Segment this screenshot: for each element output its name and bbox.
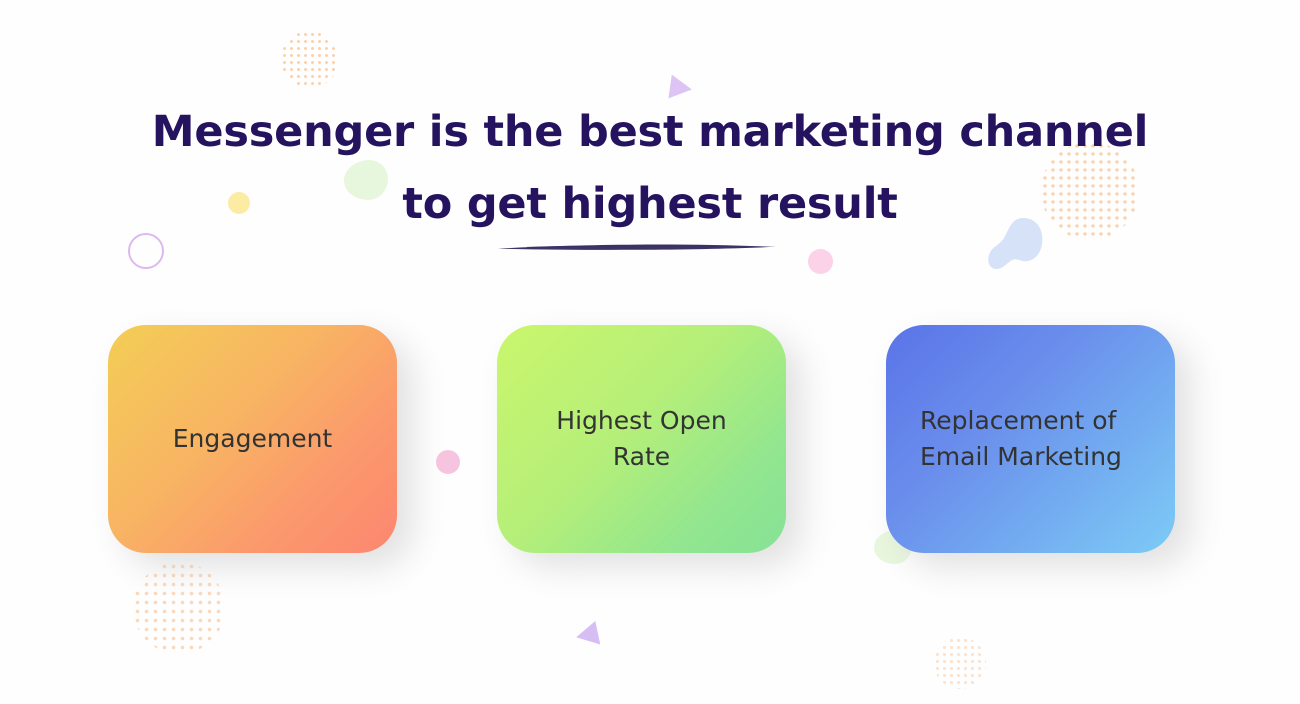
feature-card-replacement-of-email-marketing[interactable]: Replacement of Email Marketing <box>886 325 1175 553</box>
underline-stroke-icon <box>497 240 777 254</box>
title-line-1: Messenger is the best marketing channel <box>0 96 1300 168</box>
card-label: Replacement of Email Marketing <box>920 403 1149 475</box>
feature-card-engagement[interactable]: Engagement <box>108 325 397 553</box>
card-content: Replacement of Email Marketing <box>912 403 1149 475</box>
dotted-circle-bottom-left-icon <box>133 562 225 654</box>
card-content: Highest Open Rate <box>523 403 760 475</box>
card-label: Engagement <box>134 421 371 457</box>
card-label: Highest Open Rate <box>523 403 760 475</box>
feature-card-row: Engagement Highest Open Rate Replacement… <box>0 325 1300 565</box>
title-line-2: to get highest result <box>0 168 1300 240</box>
purple-triangle-bottom-icon <box>574 621 601 649</box>
dotted-circle-bottom-right-icon <box>934 637 986 689</box>
pink-dot-title-icon <box>808 249 833 274</box>
title-underline <box>497 240 777 254</box>
dotted-circle-top-left-icon <box>281 31 338 88</box>
card-content: Engagement <box>134 421 371 457</box>
feature-card-highest-open-rate[interactable]: Highest Open Rate <box>497 325 786 553</box>
page-title: Messenger is the best marketing channel … <box>0 96 1300 240</box>
slide-canvas: Messenger is the best marketing channel … <box>0 0 1300 704</box>
